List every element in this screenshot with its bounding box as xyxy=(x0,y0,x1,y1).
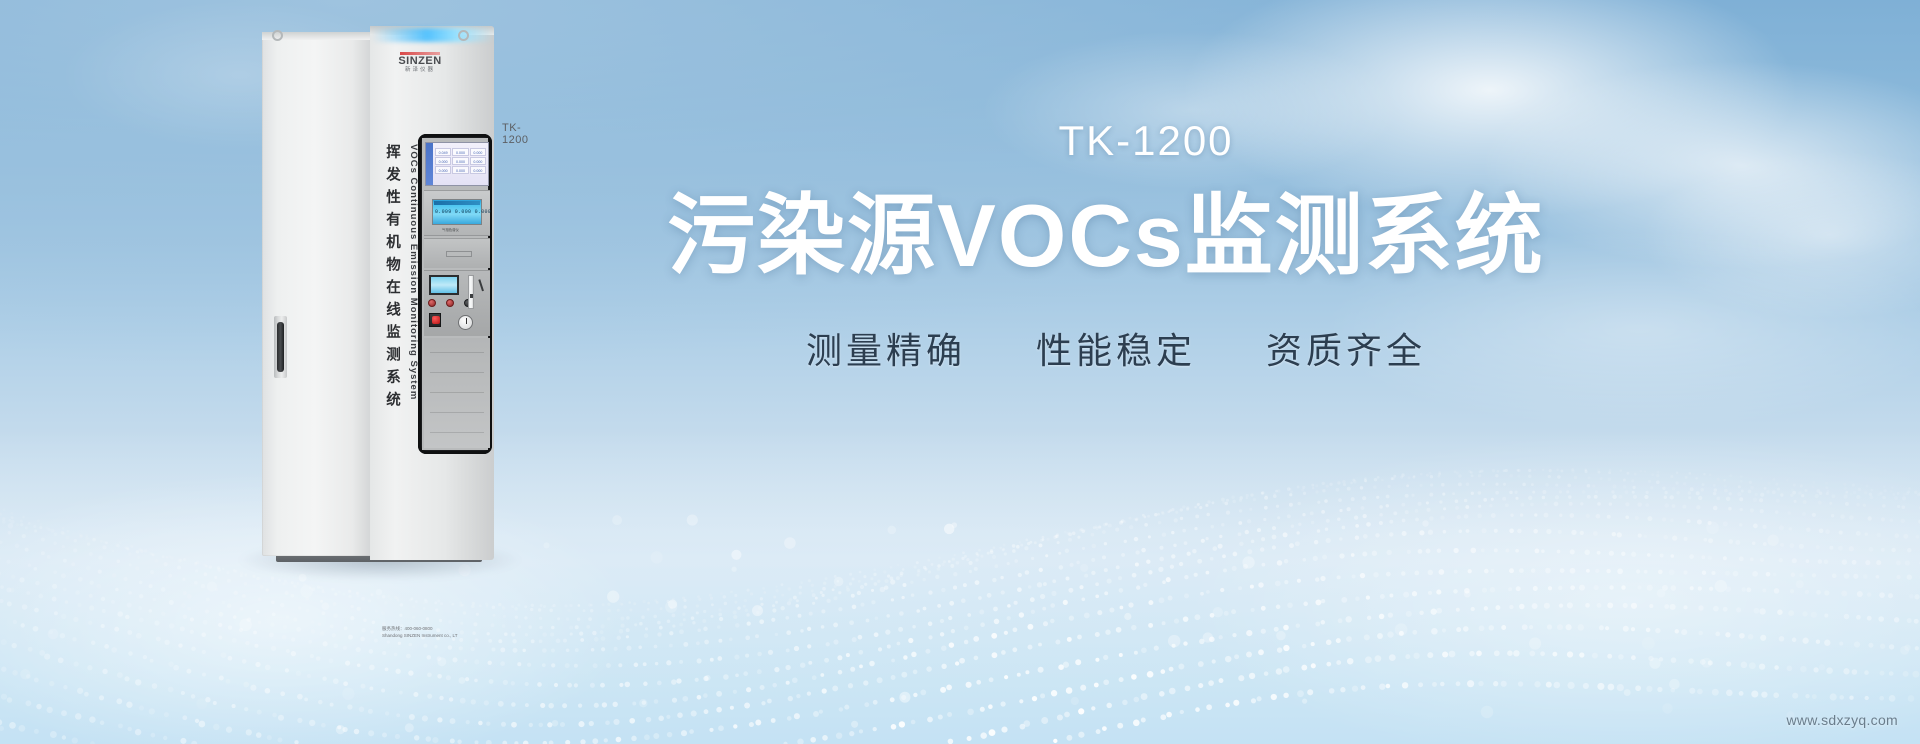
lifting-eye-icon xyxy=(458,30,469,41)
service-hotline: 服务热线：400-060-0800 xyxy=(382,626,572,633)
hmi-cell: 0.000 xyxy=(435,166,451,174)
hero-feature-list: 测量精确 性能稳定 资质齐全 xyxy=(546,322,1666,374)
product-cabinet: SINZEN 新泽仪器 TK-1200 挥发性有机物在线监测系统 VOCs Co… xyxy=(262,26,494,556)
analyzer-reading: 0.009 0.000 0.000 xyxy=(435,209,479,215)
panel-mini-screen[interactable] xyxy=(429,275,459,295)
pressure-gauge xyxy=(458,315,473,330)
flow-float xyxy=(470,294,473,298)
hmi-cell: 0.000 xyxy=(470,148,486,156)
hmi-cell: 0.000 xyxy=(470,166,486,174)
service-info: 服务热线：400-060-0800 Shandong SINZEN Instru… xyxy=(382,626,572,640)
flow-meter xyxy=(468,275,474,309)
door-handle-grip[interactable] xyxy=(277,322,284,372)
brand-name: SINZEN xyxy=(382,56,458,67)
vent-line xyxy=(430,432,484,433)
feature-item: 资质齐全 xyxy=(1266,322,1426,374)
hmi-value-grid: 0.049 0.000 0.000 0.000 0.000 0.000 0.00… xyxy=(435,148,486,183)
analyzer-display-header xyxy=(434,201,480,205)
hero-copy: TK-1200 污染源VOCs监测系统 测量精确 性能稳定 资质齐全 xyxy=(546,120,1666,374)
hmi-cell: 0.000 xyxy=(470,157,486,165)
hmi-cell: 0.000 xyxy=(435,157,451,165)
vent-line xyxy=(430,412,484,413)
heater-knob[interactable] xyxy=(446,299,454,307)
valve-lever[interactable] xyxy=(479,279,487,293)
instrument-window: 0.049 0.000 0.000 0.000 0.000 0.000 0.00… xyxy=(418,134,492,454)
lifting-eye-icon xyxy=(272,30,283,41)
feature-item: 性能稳定 xyxy=(1036,322,1196,374)
vent-line xyxy=(430,372,484,373)
hero-model: TK-1200 xyxy=(546,120,1666,162)
company-name-en: Shandong SINZEN Instrument co., LT xyxy=(382,633,572,640)
site-watermark: www.sdxzyq.com xyxy=(1786,712,1898,728)
cabinet-vertical-cn-text: 挥发性有机物在线监测系统 xyxy=(382,144,403,414)
hmi-touch-screen[interactable]: 0.049 0.000 0.000 0.000 0.000 0.000 0.00… xyxy=(425,142,489,186)
hmi-side-nav[interactable] xyxy=(426,143,433,185)
analyzer-label: 气相色谱仪 xyxy=(442,227,459,232)
door-handle[interactable] xyxy=(274,316,287,378)
power-knob[interactable] xyxy=(428,299,436,307)
control-panel xyxy=(424,270,490,336)
vent-line xyxy=(430,392,484,393)
analyzer-display: 0.009 0.000 0.000 xyxy=(432,199,482,225)
hmi-cell: 0.000 xyxy=(452,157,468,165)
emergency-stop-button[interactable] xyxy=(429,313,441,327)
brand-name-cn: 新泽仪器 xyxy=(382,68,458,74)
hero-title: 污染源VOCs监测系统 xyxy=(546,190,1666,282)
top-edge-glow xyxy=(372,28,494,42)
banner-stage: SINZEN 新泽仪器 TK-1200 挥发性有机物在线监测系统 VOCs Co… xyxy=(0,0,1920,744)
cabinet-door xyxy=(262,32,372,556)
hmi-cell: 0.000 xyxy=(452,148,468,156)
brand-logo: SINZEN 新泽仪器 xyxy=(382,52,458,74)
hmi-cell: 0.049 xyxy=(435,148,451,156)
feature-item: 测量精确 xyxy=(806,322,966,374)
analyzer-module: 0.009 0.000 0.000 气相色谱仪 xyxy=(424,190,490,236)
cabinet-model-tag: TK-1200 xyxy=(502,122,528,146)
blank-module xyxy=(424,238,490,268)
lower-bay xyxy=(424,338,490,448)
module-slot xyxy=(446,251,472,257)
hmi-cell: 0.000 xyxy=(452,166,468,174)
instrument-stack: 0.049 0.000 0.000 0.000 0.000 0.000 0.00… xyxy=(422,138,488,450)
vent-line xyxy=(430,352,484,353)
